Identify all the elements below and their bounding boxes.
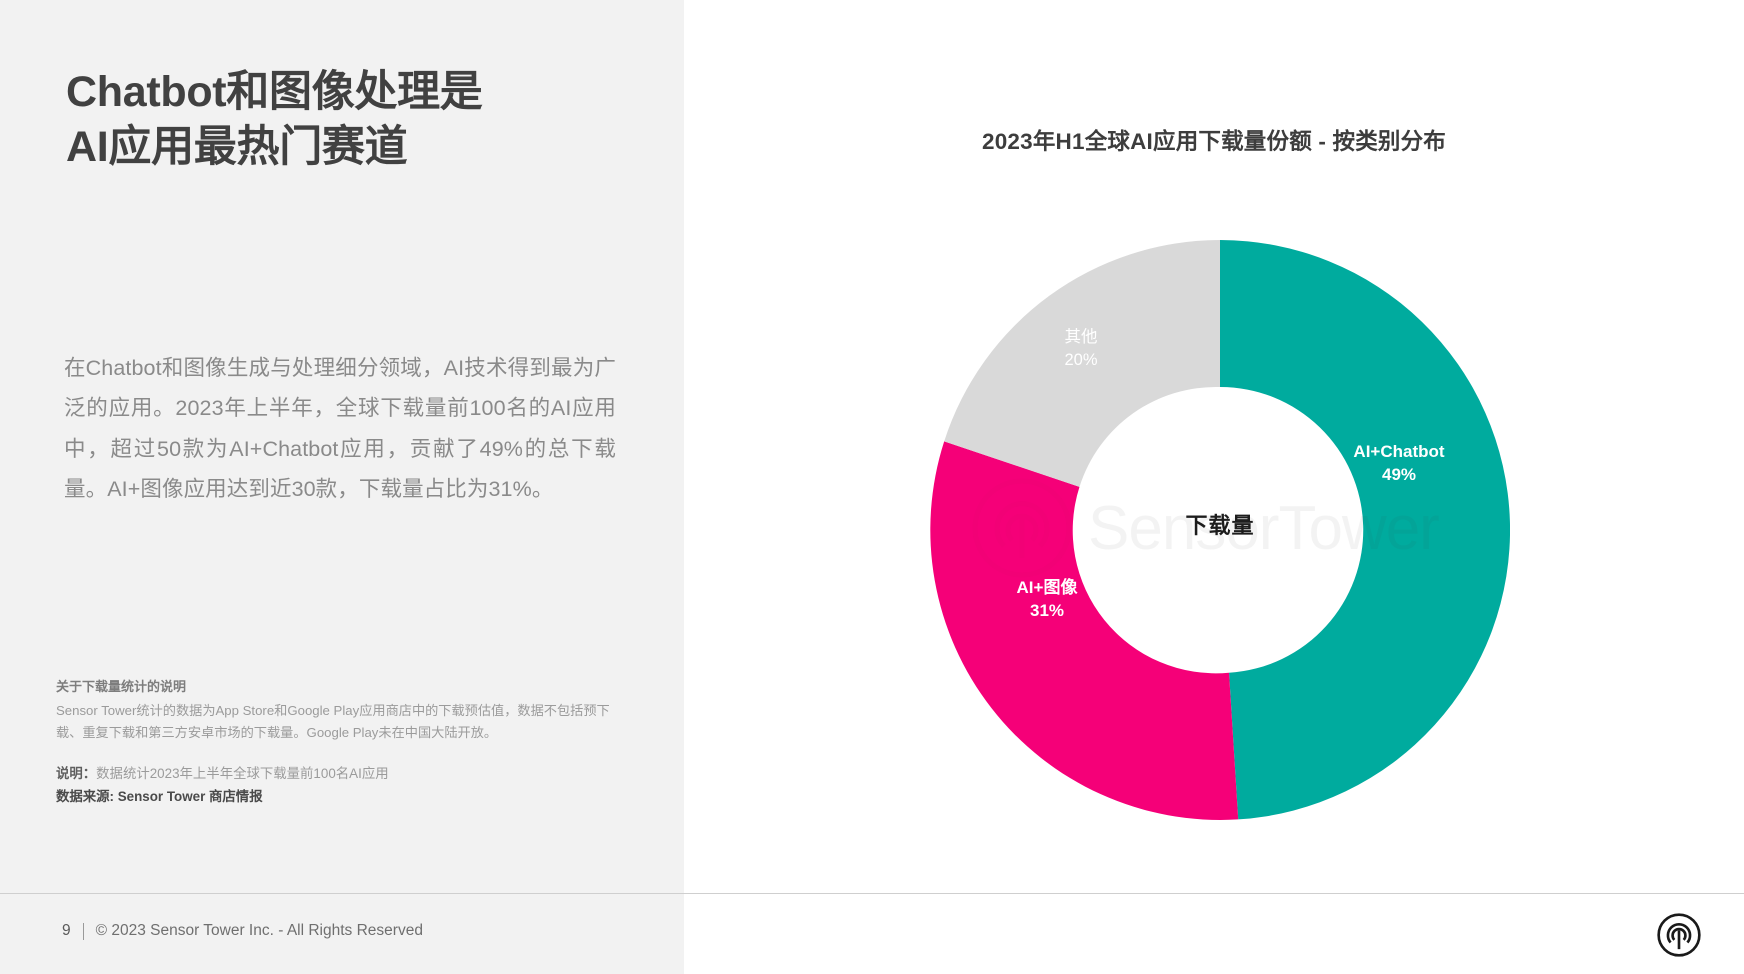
page-number: 9 [62, 922, 71, 940]
footer-separator [83, 923, 84, 940]
source-description-label: 说明： [56, 766, 96, 781]
page-title: Chatbot和图像处理是 AI应用最热门赛道 [66, 65, 626, 175]
source-description-line: 说明：数据统计2023年上半年全球下载量前100名AI应用 [56, 762, 636, 785]
page-title-line-1: Chatbot和图像处理是 [66, 65, 626, 120]
donut-chart: SensorTower 下载量 AI+Chatbot 49% AI+图像 31%… [930, 240, 1510, 820]
body-paragraph: 在Chatbot和图像生成与处理细分领域，AI技术得到最为广泛的应用。2023年… [64, 348, 616, 510]
sensor-tower-logo-icon [1656, 912, 1702, 958]
source-block: 说明：数据统计2023年上半年全球下载量前100名AI应用 数据来源: Sens… [56, 762, 636, 808]
footer-divider [0, 893, 1744, 894]
donut-slice-ai-image[interactable] [930, 441, 1238, 820]
download-note-heading: 关于下载量统计的说明 [56, 677, 636, 697]
source-attribution: 数据来源: Sensor Tower 商店情报 [56, 785, 636, 808]
copyright-text: © 2023 Sensor Tower Inc. - All Rights Re… [96, 922, 423, 940]
chart-title: 2023年H1全球AI应用下载量份额 - 按类别分布 [684, 124, 1744, 156]
body-paragraph-block: 在Chatbot和图像生成与处理细分领域，AI技术得到最为广泛的应用。2023年… [64, 348, 616, 510]
donut-slice-other[interactable] [944, 240, 1220, 487]
donut-center-label: 下载量 [1120, 508, 1320, 540]
slide-root: Chatbot和图像处理是 AI应用最热门赛道 在Chatbot和图像生成与处理… [0, 0, 1744, 974]
download-note-block: 关于下载量统计的说明 Sensor Tower统计的数据为App Store和G… [56, 677, 636, 743]
download-note-text: Sensor Tower统计的数据为App Store和Google Play应… [56, 700, 636, 743]
footer: 9 © 2023 Sensor Tower Inc. - All Rights … [62, 922, 423, 940]
page-title-line-2: AI应用最热门赛道 [66, 120, 626, 175]
source-description-value: 数据统计2023年上半年全球下载量前100名AI应用 [96, 766, 388, 781]
